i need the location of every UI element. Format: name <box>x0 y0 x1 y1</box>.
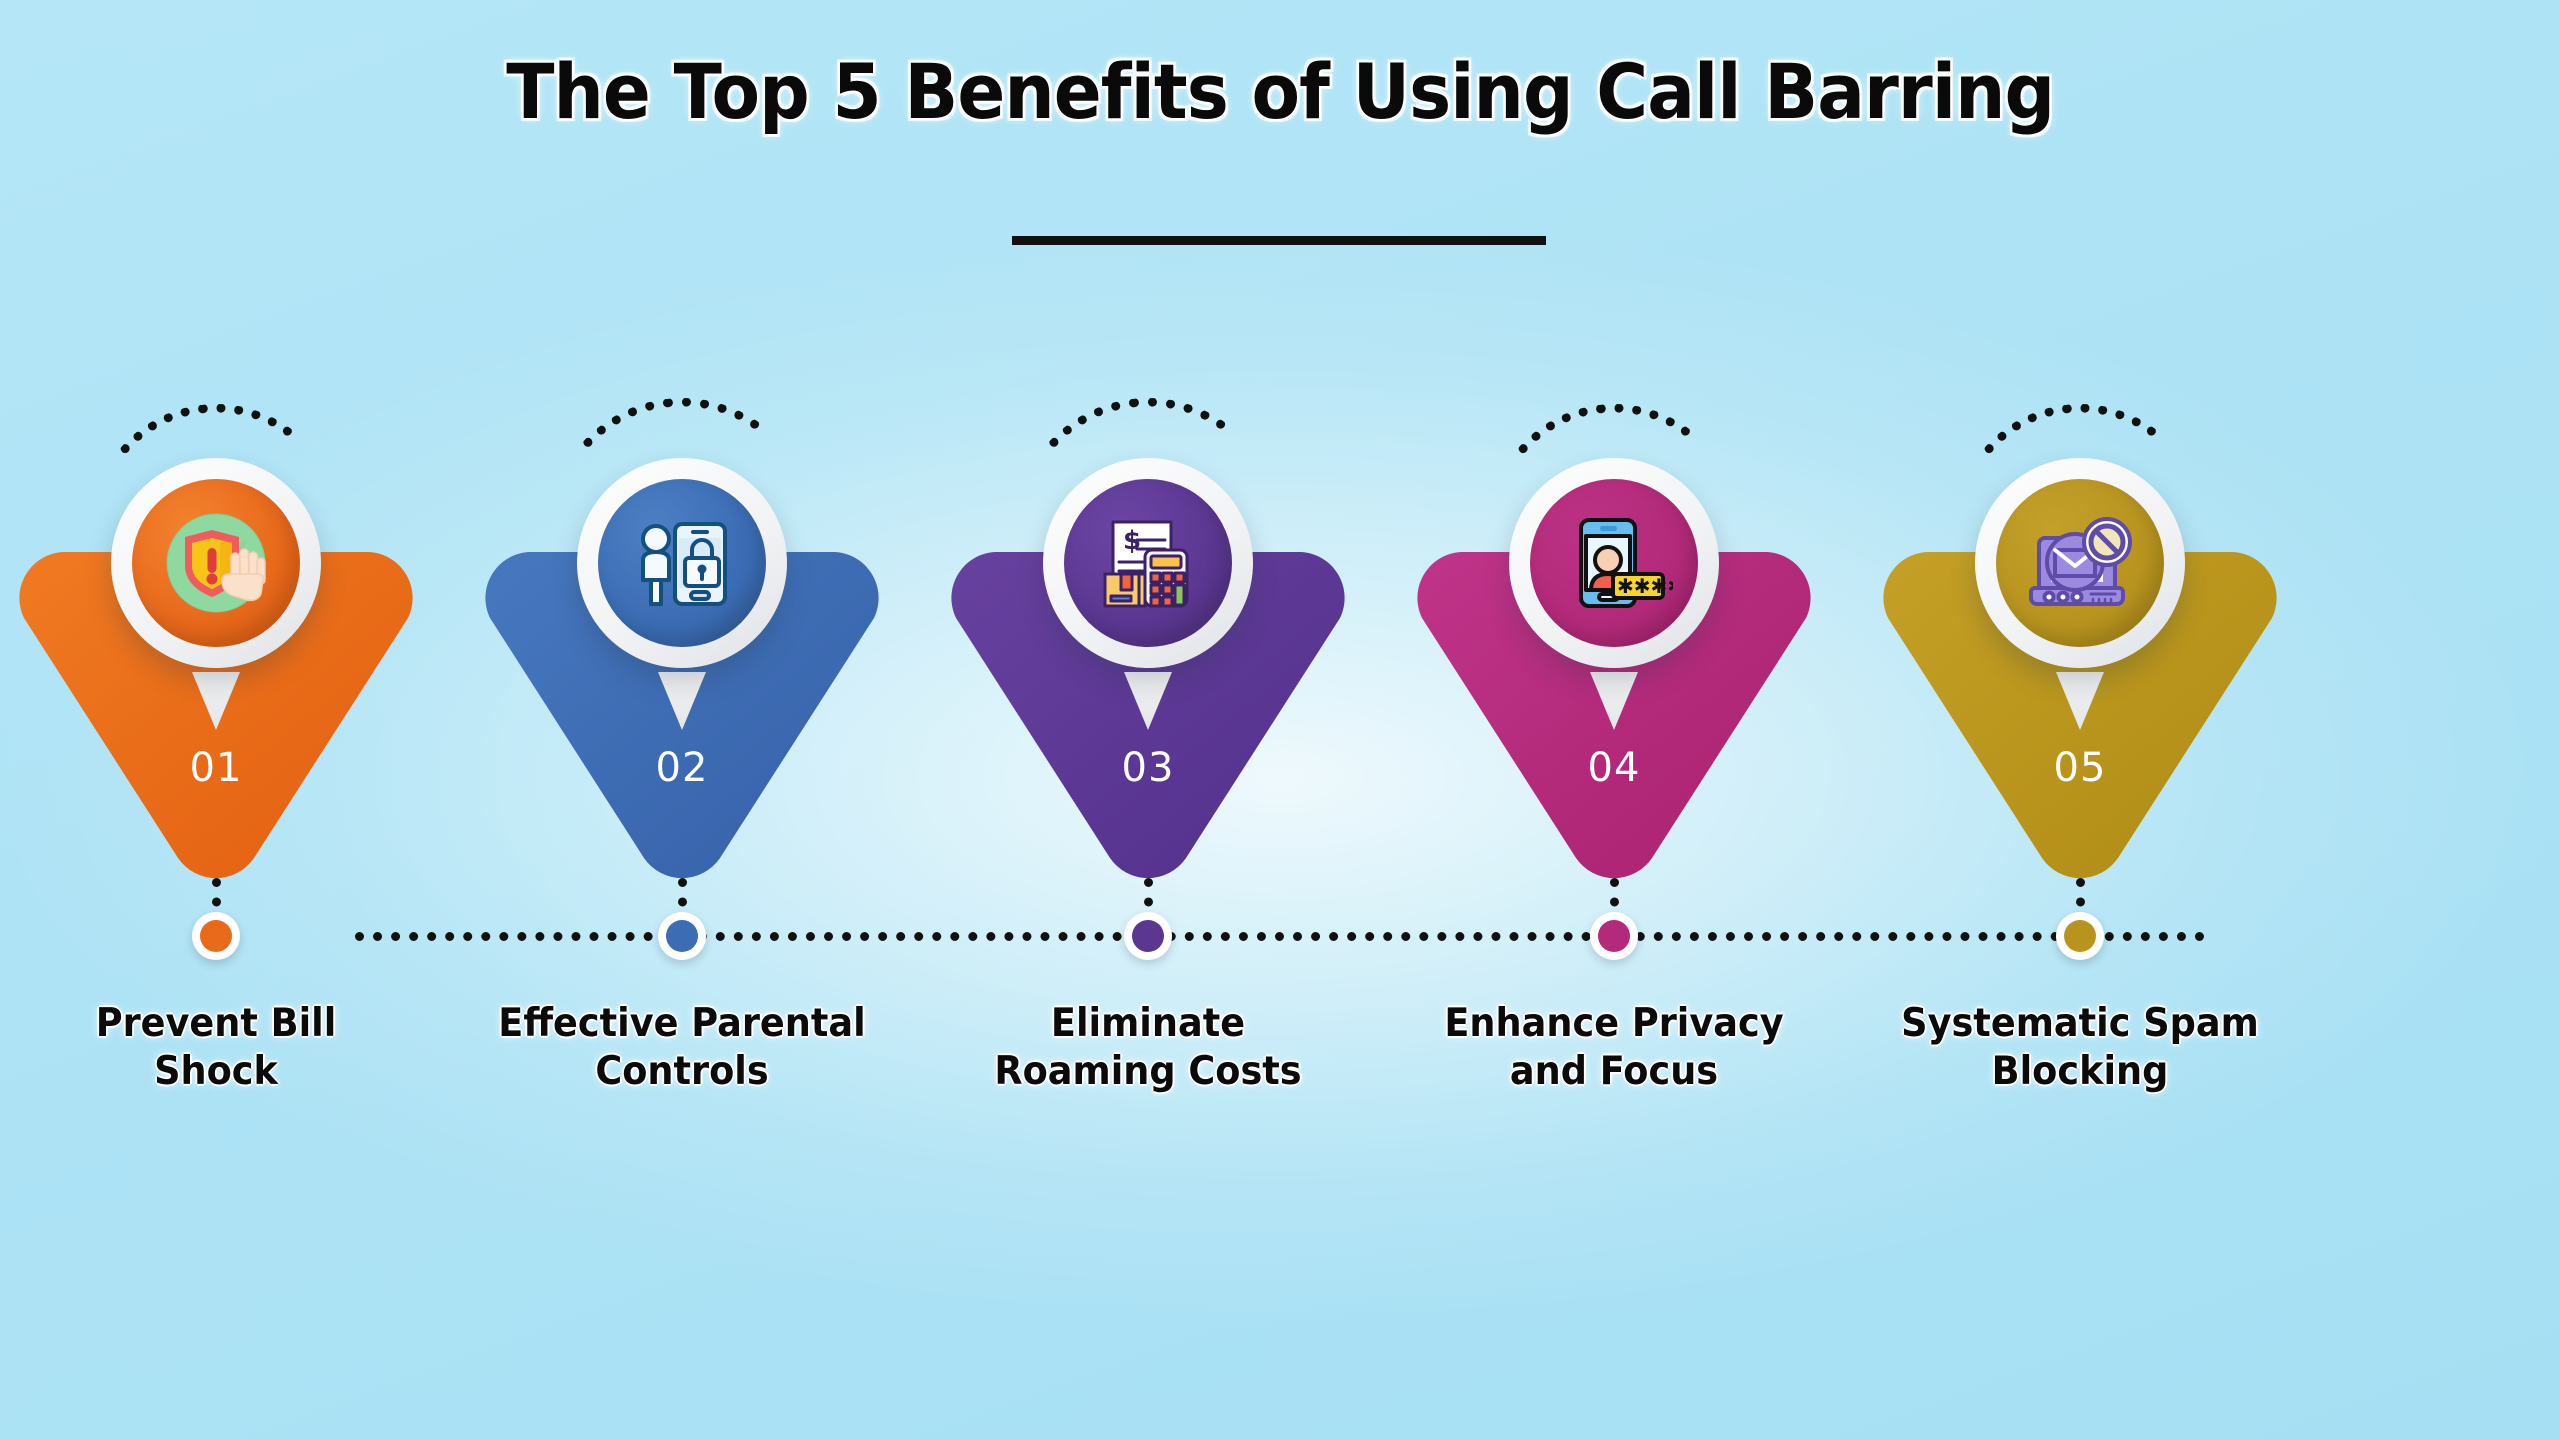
timeline-node[interactable] <box>658 912 706 960</box>
node-dot <box>2064 920 2096 952</box>
benefit-item-01[interactable]: 01 Prevent Bill Shock <box>0 0 449 1440</box>
benefit-item-03[interactable]: $ <box>915 0 1381 1440</box>
icon-ring <box>1975 458 2185 668</box>
person-phone-lock-icon <box>623 504 741 622</box>
item-caption: Prevent Bill Shock <box>14 1000 418 1095</box>
timeline-node[interactable] <box>1590 912 1638 960</box>
benefits-list: 01 Prevent Bill Shock <box>0 0 2560 1440</box>
item-number: 02 <box>582 745 782 791</box>
caption-line-2: Roaming Costs <box>946 1048 1350 1096</box>
phone-user-password-icon: ✱✱✱✱ <box>1555 504 1673 622</box>
benefit-item-04[interactable]: ✱✱✱✱ 04 Enhance Privacy and Focus <box>1381 0 1847 1440</box>
icon-ring <box>577 458 787 668</box>
node-dot <box>1132 920 1164 952</box>
caption-line-2: Blocking <box>1878 1048 2282 1096</box>
icon-ring: $ <box>1043 458 1253 668</box>
timeline-dotted-line <box>355 932 2205 941</box>
item-number: 05 <box>1980 745 2180 791</box>
benefit-item-02[interactable]: 02 Effective Parental Controls <box>449 0 915 1440</box>
caption-line-2: and Focus <box>1412 1048 1816 1096</box>
caption-line-1: Eliminate <box>946 1000 1350 1048</box>
caption-line-2: Controls <box>480 1048 884 1096</box>
infographic-canvas: The Top 5 Benefits of Using Call Barring <box>0 0 2560 1440</box>
icon-disc: ✱✱✱✱ <box>1530 479 1698 647</box>
icon-ring: ✱✱✱✱ <box>1509 458 1719 668</box>
timeline-node[interactable] <box>2056 912 2104 960</box>
caption-line-1: Systematic Spam <box>1878 1000 2282 1048</box>
benefit-item-05[interactable]: 05 Systematic Spam Blocking <box>1847 0 2313 1440</box>
item-number: 01 <box>116 745 316 791</box>
item-caption: Effective Parental Controls <box>480 1000 884 1095</box>
item-caption: Eliminate Roaming Costs <box>946 1000 1350 1095</box>
laptop-spam-blocked-icon <box>2021 504 2139 622</box>
svg-text:✱✱✱✱: ✱✱✱✱ <box>1617 574 1673 598</box>
node-dot <box>200 920 232 952</box>
caption-line-2: Shock <box>14 1048 418 1096</box>
timeline-node[interactable] <box>192 912 240 960</box>
item-caption: Enhance Privacy and Focus <box>1412 1000 1816 1095</box>
shield-warning-hand-icon <box>157 504 275 622</box>
icon-ring <box>111 458 321 668</box>
invoice-calculator-box-icon: $ <box>1089 504 1207 622</box>
item-number: 03 <box>1048 745 1248 791</box>
icon-disc <box>1996 479 2164 647</box>
caption-line-1: Prevent Bill <box>14 1000 418 1048</box>
timeline-node[interactable] <box>1124 912 1172 960</box>
icon-disc <box>132 479 300 647</box>
icon-disc: $ <box>1064 479 1232 647</box>
icon-disc <box>598 479 766 647</box>
item-number: 04 <box>1514 745 1714 791</box>
caption-line-1: Effective Parental <box>480 1000 884 1048</box>
node-dot <box>666 920 698 952</box>
caption-line-1: Enhance Privacy <box>1412 1000 1816 1048</box>
item-caption: Systematic Spam Blocking <box>1878 1000 2282 1095</box>
node-dot <box>1598 920 1630 952</box>
